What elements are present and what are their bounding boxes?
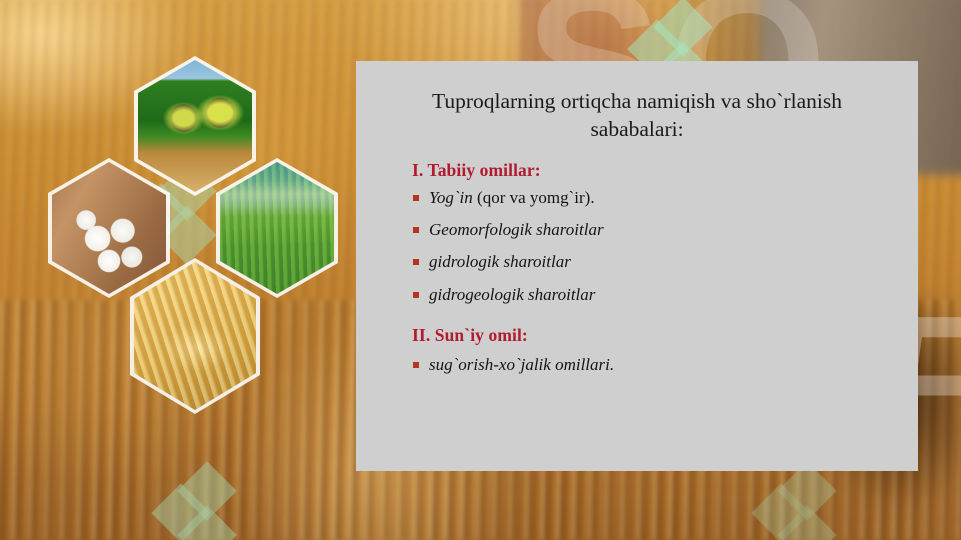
slide-title: Tuproqlarning ortiqcha namiqish va sho`r… bbox=[356, 61, 918, 144]
slide-body: I. Tabiiy omillar: Yog`in (qor va yomg`i… bbox=[356, 144, 918, 375]
list-item-text: sug`orish-xo`jalik omillari. bbox=[429, 355, 614, 374]
list-item-text: Yog`in bbox=[429, 188, 473, 207]
list-item: gidrogeologik sharoitlar bbox=[412, 284, 918, 305]
list-item-text: Geomorfologik sharoitlar bbox=[429, 220, 604, 239]
list-item-text: gidrogeologik sharoitlar bbox=[429, 285, 595, 304]
bullet-list: sug`orish-xo`jalik omillari. bbox=[412, 354, 918, 375]
list-item-text-upright: (qor va yomg`ir). bbox=[473, 188, 595, 207]
list-item-text: gidrologik sharoitlar bbox=[429, 252, 571, 271]
section-heading: I. Tabiiy omillar: bbox=[412, 160, 918, 181]
content-panel: Tuproqlarning ortiqcha namiqish va sho`r… bbox=[356, 61, 918, 471]
section-natural-factors: I. Tabiiy omillar: Yog`in (qor va yomg`i… bbox=[412, 160, 918, 305]
list-item: Yog`in (qor va yomg`ir). bbox=[412, 187, 918, 208]
list-item: sug`orish-xo`jalik omillari. bbox=[412, 354, 918, 375]
list-item: Geomorfologik sharoitlar bbox=[412, 219, 918, 240]
section-heading: II. Sun`iy omil: bbox=[412, 325, 918, 346]
list-item: gidrologik sharoitlar bbox=[412, 251, 918, 272]
slide: SO OFF Tuproqlarning ortiqcha namiqish v… bbox=[0, 0, 961, 540]
bullet-list: Yog`in (qor va yomg`ir). Geomorfologik s… bbox=[412, 187, 918, 305]
section-artificial-factor: II. Sun`iy omil: sug`orish-xo`jalik omil… bbox=[412, 325, 918, 375]
